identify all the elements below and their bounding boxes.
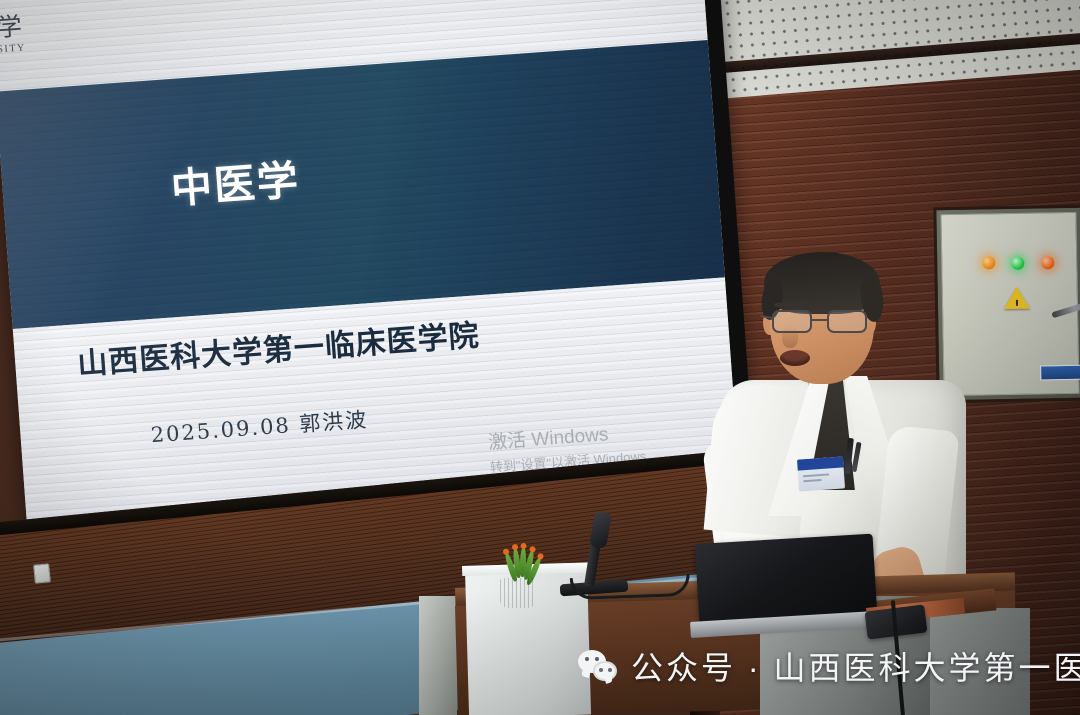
badge-line — [803, 473, 829, 477]
eyeglass-lens — [827, 310, 867, 333]
warning-triangle-icon — [1004, 287, 1030, 309]
id-badge — [797, 456, 845, 491]
panel-label — [1040, 365, 1080, 381]
panel-handle[interactable] — [1051, 297, 1080, 318]
wechat-dot — [595, 657, 599, 661]
wechat-dot — [585, 657, 589, 661]
speaker-nose — [782, 326, 798, 348]
wall-pillar — [419, 596, 457, 715]
panel-label-text — [1041, 366, 1080, 367]
flower-pot — [500, 578, 536, 608]
wechat-watermark: 公众号 · 山西医科大学第一医院 — [578, 643, 1080, 689]
indicator-lamp-green-icon — [1011, 257, 1024, 270]
wall-outlet[interactable] — [33, 563, 51, 583]
wechat-bubble-small — [593, 661, 617, 681]
indicator-lamp-amber-icon — [982, 256, 995, 269]
slide-title: 中医学 — [169, 146, 302, 215]
eyeglass-bridge — [812, 319, 829, 321]
wechat-dot — [599, 668, 603, 672]
wechat-dot — [608, 668, 612, 672]
wechat-icon — [578, 650, 618, 682]
badge-header — [797, 456, 844, 470]
speaker-mouth — [780, 350, 810, 366]
screenshot-root: 科大学 L UNIVERSITY 中医学 山西医科大学第一临床医学院 2025.… — [0, 0, 1080, 715]
desk-cable-loop — [570, 574, 691, 600]
badge-line — [803, 479, 821, 482]
indicator-lamp-red-icon — [1041, 256, 1054, 269]
wechat-watermark-text: 公众号 · 山西医科大学第一医院 — [631, 643, 1080, 689]
